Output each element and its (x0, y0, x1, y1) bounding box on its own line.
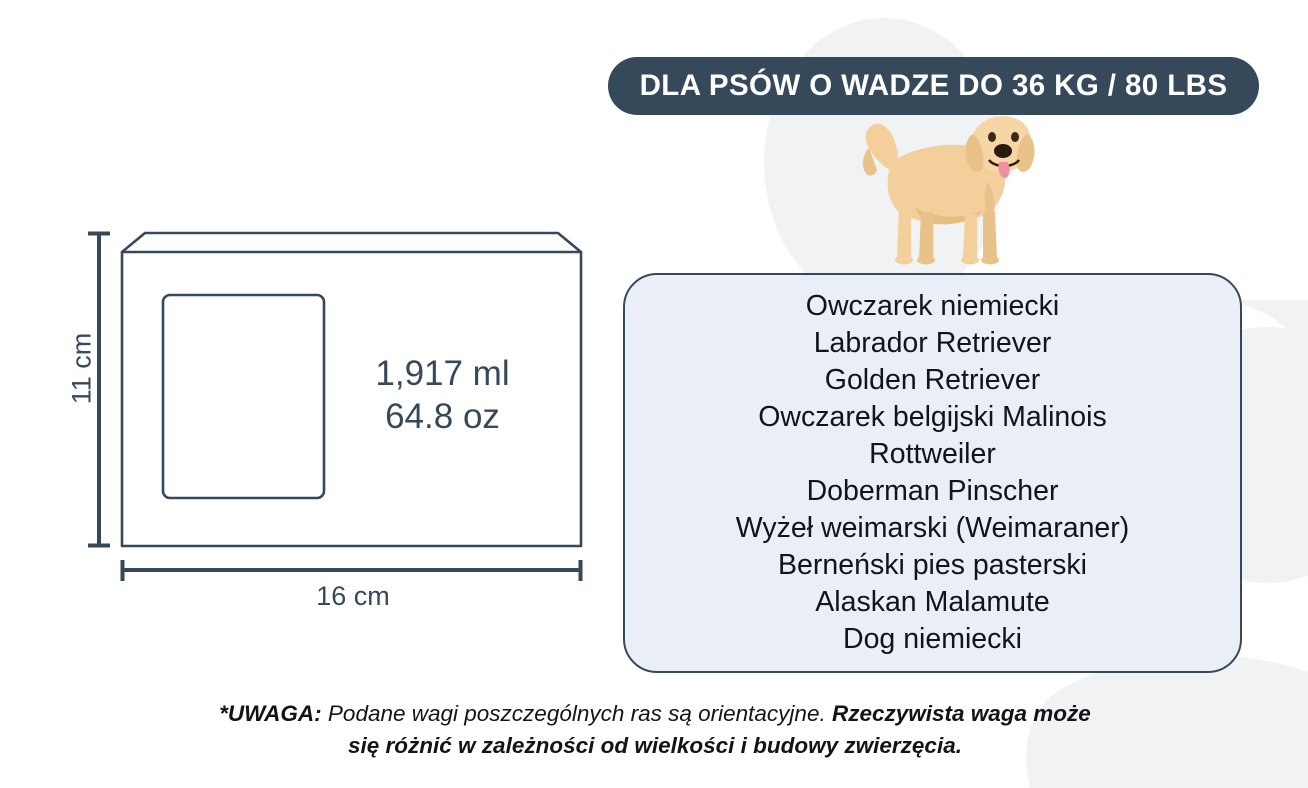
weight-range-title: DLA PSÓW O WADZE DO 36 KG / 80 LBS (640, 69, 1228, 103)
dog-eye-right-icon (1011, 132, 1019, 142)
volume-milliliters: 1,917 ml (330, 352, 555, 395)
footnote-disclaimer: *UWAGA: Podane wagi poszczególnych ras s… (210, 698, 1100, 762)
dog-head-icon (966, 116, 1035, 178)
golden-retriever-illustration (855, 112, 1040, 272)
list-item: Alaskan Malamute (815, 584, 1049, 621)
box-window-panel (163, 295, 324, 498)
list-item: Labrador Retriever (814, 325, 1052, 362)
list-item: Golden Retriever (825, 362, 1040, 399)
box-volume-block: 1,917 ml 64.8 oz (330, 352, 555, 438)
weight-range-header: DLA PSÓW O WADZE DO 36 KG / 80 LBS (608, 57, 1259, 115)
list-item: Rottweiler (869, 436, 996, 473)
box-height-label: 11 cm (66, 333, 97, 405)
list-item: Wyżeł weimarski (Weimaraner) (736, 510, 1130, 547)
list-item: Doberman Pinscher (807, 473, 1059, 510)
dog-eye-left-icon (988, 132, 996, 142)
box-width-label: 16 cm (253, 581, 453, 612)
list-item: Owczarek niemiecki (806, 288, 1059, 325)
box-top-flap (122, 233, 581, 252)
list-item: Owczarek belgijski Malinois (758, 399, 1106, 436)
infographic-root: 11 cm 16 cm 1,917 ml 64.8 oz DLA PSÓW O … (0, 0, 1308, 788)
list-item: Berneński pies pasterski (778, 547, 1087, 584)
footnote-normal-text: Podane wagi poszczególnych ras są orient… (322, 701, 832, 726)
list-item: Dog niemiecki (843, 621, 1022, 658)
dog-nose-icon (994, 144, 1012, 158)
volume-ounces: 64.8 oz (330, 395, 555, 438)
footnote-prefix: *UWAGA: (219, 701, 322, 726)
breed-list-card: Owczarek niemiecki Labrador Retriever Go… (623, 273, 1242, 673)
